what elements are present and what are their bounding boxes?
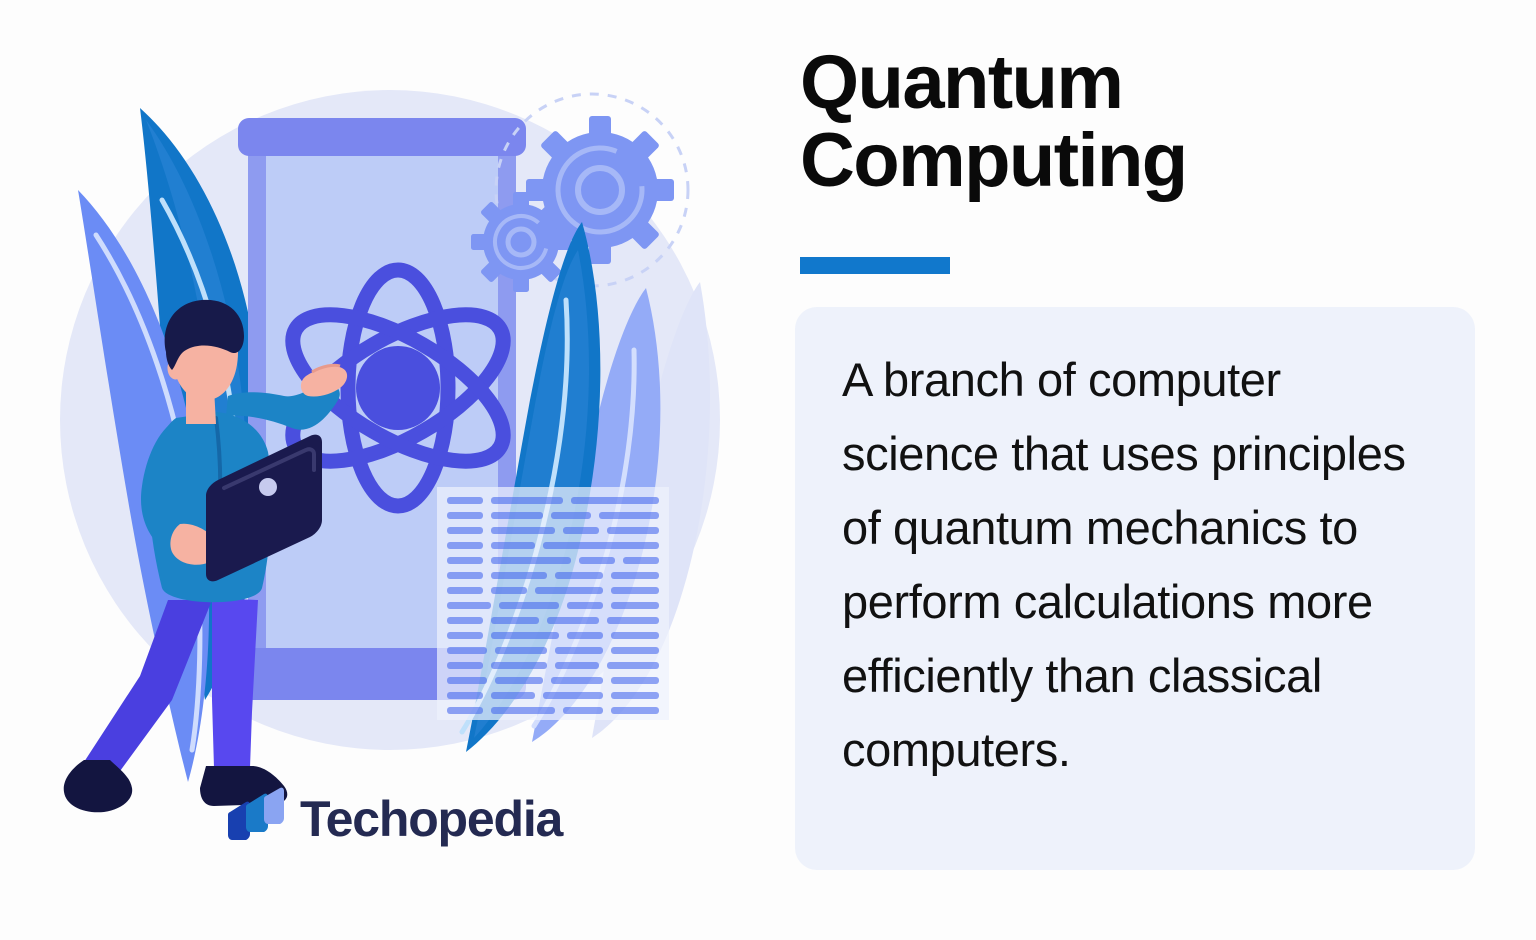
definition-text: A branch of computer science that uses p…: [842, 343, 1431, 787]
techopedia-mark-icon: [222, 786, 284, 853]
title-accent-bar: [800, 257, 950, 274]
infographic-card: Techopedia Quantum Computing A branch of…: [0, 0, 1536, 940]
techopedia-wordmark: Techopedia: [300, 794, 562, 844]
content-column: Quantum Computing A branch of computer s…: [795, 0, 1495, 940]
techopedia-logo[interactable]: Techopedia: [222, 786, 562, 852]
atom-nucleus: [356, 346, 440, 430]
page-title: Quantum Computing: [800, 44, 1460, 199]
document-sheet: [437, 487, 669, 720]
definition-panel: A branch of computer science that uses p…: [795, 307, 1475, 870]
gear-small: [471, 192, 571, 292]
